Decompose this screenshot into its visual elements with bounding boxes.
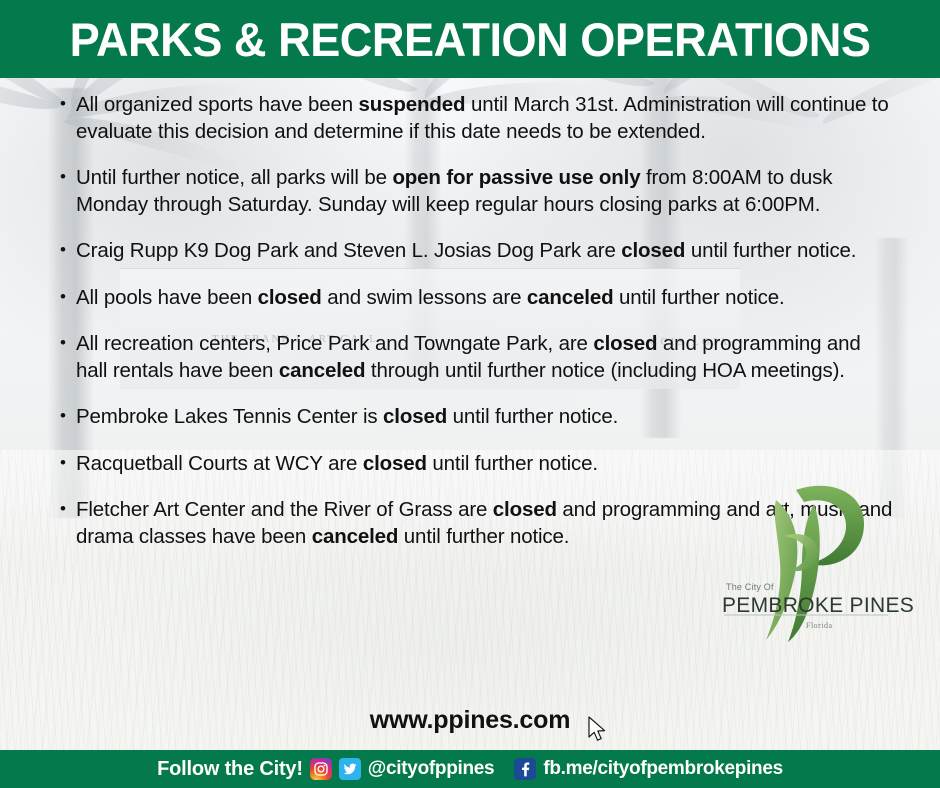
- body-text: until further notice.: [447, 405, 618, 428]
- twitter-icon[interactable]: [339, 758, 361, 780]
- body-text: Fletcher Art Center and the River of Gra…: [76, 498, 493, 521]
- body-text: Pembroke Lakes Tennis Center is: [76, 405, 383, 428]
- emphasis-text: closed: [493, 498, 557, 521]
- body-text: through until further notice (including …: [365, 359, 844, 382]
- emphasis-text: canceled: [279, 359, 366, 382]
- emphasis-text: closed: [363, 452, 427, 475]
- footer-bar: Follow the City! @cityofppines fb.me/cit…: [0, 750, 940, 788]
- announcement-list: All organized sports have been suspended…: [0, 78, 940, 550]
- poster-canvas: THE FRANK L ART GALL CCIS LGIA PARKS & R…: [0, 0, 940, 788]
- facebook-icon[interactable]: [514, 758, 536, 780]
- list-item: All pools have been closed and swim less…: [60, 285, 894, 312]
- logo-city-of-label: The City Of: [726, 582, 774, 592]
- body-text: All organized sports have been: [76, 93, 359, 116]
- announcement-body: All organized sports have been suspended…: [0, 78, 940, 750]
- logo-state-label: Florida: [806, 621, 833, 630]
- body-text: until further notice.: [685, 239, 856, 262]
- emphasis-text: canceled: [527, 286, 614, 309]
- emphasis-text: closed: [621, 239, 685, 262]
- website-url[interactable]: www.ppines.com: [0, 706, 940, 735]
- header-bar: PARKS & RECREATION OPERATIONS: [0, 0, 940, 78]
- list-item: All recreation centers, Price Park and T…: [60, 331, 894, 384]
- body-text: until further notice.: [398, 525, 569, 548]
- body-text: and swim lessons are: [322, 286, 527, 309]
- body-text: Racquetball Courts at WCY are: [76, 452, 363, 475]
- instagram-icon[interactable]: [310, 758, 332, 780]
- list-item: Craig Rupp K9 Dog Park and Steven L. Jos…: [60, 238, 894, 265]
- list-item: Until further notice, all parks will be …: [60, 165, 894, 218]
- body-text: until further notice.: [427, 452, 598, 475]
- body-text: All recreation centers, Price Park and T…: [76, 332, 593, 355]
- list-item: All organized sports have been suspended…: [60, 92, 894, 145]
- pembroke-pines-logo: The City Of PEMBROKE PINES Florida: [718, 482, 894, 647]
- body-text: Until further notice, all parks will be: [76, 166, 392, 189]
- list-item: Racquetball Courts at WCY are closed unt…: [60, 451, 894, 478]
- body-text: until further notice.: [613, 286, 784, 309]
- emphasis-text: closed: [593, 332, 657, 355]
- emphasis-text: closed: [258, 286, 322, 309]
- emphasis-text: closed: [383, 405, 447, 428]
- page-title: PARKS & RECREATION OPERATIONS: [70, 16, 871, 63]
- follow-the-city-label: Follow the City!: [157, 758, 303, 781]
- facebook-handle[interactable]: fb.me/cityofpembrokepines: [543, 758, 783, 780]
- emphasis-text: suspended: [359, 93, 466, 116]
- emphasis-text: open for passive use only: [392, 166, 640, 189]
- instagram-handle[interactable]: @cityofppines: [368, 758, 495, 780]
- logo-city-name: PEMBROKE PINES: [722, 594, 914, 618]
- list-item: Pembroke Lakes Tennis Center is closed u…: [60, 404, 894, 431]
- body-text: All pools have been: [76, 286, 258, 309]
- emphasis-text: canceled: [312, 525, 399, 548]
- body-text: Craig Rupp K9 Dog Park and Steven L. Jos…: [76, 239, 621, 262]
